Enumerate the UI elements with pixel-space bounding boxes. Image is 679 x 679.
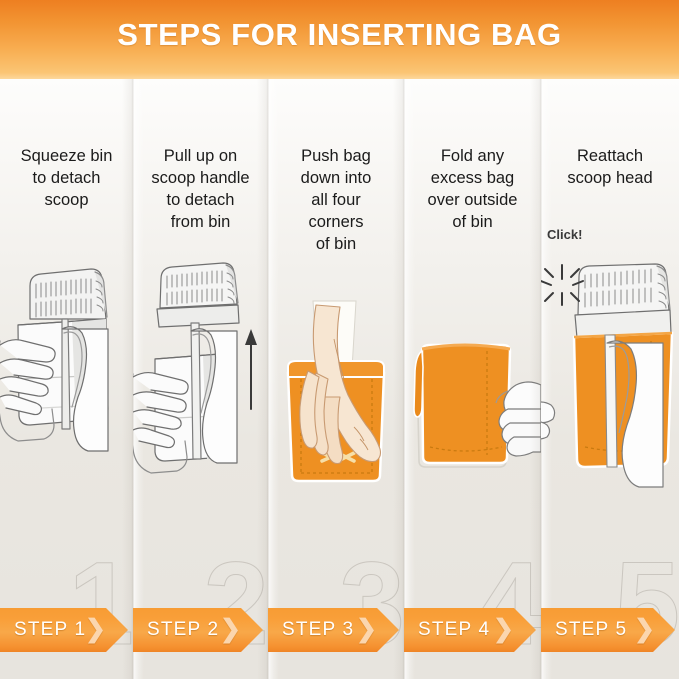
page-title: STEPS FOR INSERTING BAG bbox=[0, 0, 679, 70]
caption-line: over outside bbox=[407, 189, 538, 211]
step-panel-3[interactable]: Push bag down into all four corners of b… bbox=[268, 79, 404, 679]
step-banner-label-3: STEP 3 bbox=[282, 608, 354, 652]
caption-line: excess bag bbox=[407, 167, 538, 189]
caption-line: from bin bbox=[136, 211, 265, 233]
step-panel-1[interactable]: Squeeze bin to detach scoop bbox=[0, 79, 133, 679]
step-banner-2[interactable]: STEP 2 ❯ bbox=[133, 608, 263, 652]
step-caption-1: Squeeze bin to detach scoop bbox=[0, 145, 133, 211]
chevron-right-icon: ❯ bbox=[634, 608, 655, 652]
caption-line: Reattach bbox=[544, 145, 676, 167]
step-banner-label-5: STEP 5 bbox=[555, 608, 627, 652]
steps-strip: Squeeze bin to detach scoop bbox=[0, 79, 679, 679]
step-caption-4: Fold any excess bag over outside of bin bbox=[404, 145, 541, 233]
step-caption-3: Push bag down into all four corners of b… bbox=[268, 145, 404, 255]
caption-line: of bin bbox=[271, 233, 401, 255]
step-banner-5[interactable]: STEP 5 ❯ bbox=[541, 608, 675, 652]
step-caption-2: Pull up on scoop handle to detach from b… bbox=[133, 145, 268, 233]
caption-line: Pull up on bbox=[136, 145, 265, 167]
step-panel-4[interactable]: Fold any excess bag over outside of bin bbox=[404, 79, 541, 679]
infographic-page: STEPS FOR INSERTING BAG Squeeze bin to d… bbox=[0, 0, 679, 679]
step-banner-label-4: STEP 4 bbox=[418, 608, 490, 652]
step-panel-2[interactable]: Pull up on scoop handle to detach from b… bbox=[133, 79, 268, 679]
step-banner-3[interactable]: STEP 3 ❯ bbox=[268, 608, 399, 652]
step-banner-4[interactable]: STEP 4 ❯ bbox=[404, 608, 536, 652]
chevron-right-icon: ❯ bbox=[85, 608, 106, 652]
chevron-right-icon: ❯ bbox=[493, 608, 514, 652]
step-caption-5: Reattach scoop head bbox=[541, 145, 679, 189]
chevron-right-icon: ❯ bbox=[356, 608, 377, 652]
caption-line: corners bbox=[271, 211, 401, 233]
caption-line: Push bag bbox=[271, 145, 401, 167]
caption-line: Fold any bbox=[407, 145, 538, 167]
caption-line: scoop bbox=[3, 189, 130, 211]
caption-line: Squeeze bin bbox=[3, 145, 130, 167]
chevron-right-icon: ❯ bbox=[220, 608, 241, 652]
header-banner: STEPS FOR INSERTING BAG bbox=[0, 0, 679, 79]
caption-line: scoop head bbox=[544, 167, 676, 189]
caption-line: of bin bbox=[407, 211, 538, 233]
step-panel-5[interactable]: Reattach scoop head bbox=[541, 79, 679, 679]
click-annotation: Click! bbox=[547, 227, 582, 242]
caption-line: to detach bbox=[3, 167, 130, 189]
step-banner-label-2: STEP 2 bbox=[147, 608, 219, 652]
step-banner-label-1: STEP 1 bbox=[14, 608, 86, 652]
caption-line: down into bbox=[271, 167, 401, 189]
step-banner-1[interactable]: STEP 1 ❯ bbox=[0, 608, 128, 652]
caption-line: scoop handle bbox=[136, 167, 265, 189]
caption-line: to detach bbox=[136, 189, 265, 211]
caption-line: all four bbox=[271, 189, 401, 211]
